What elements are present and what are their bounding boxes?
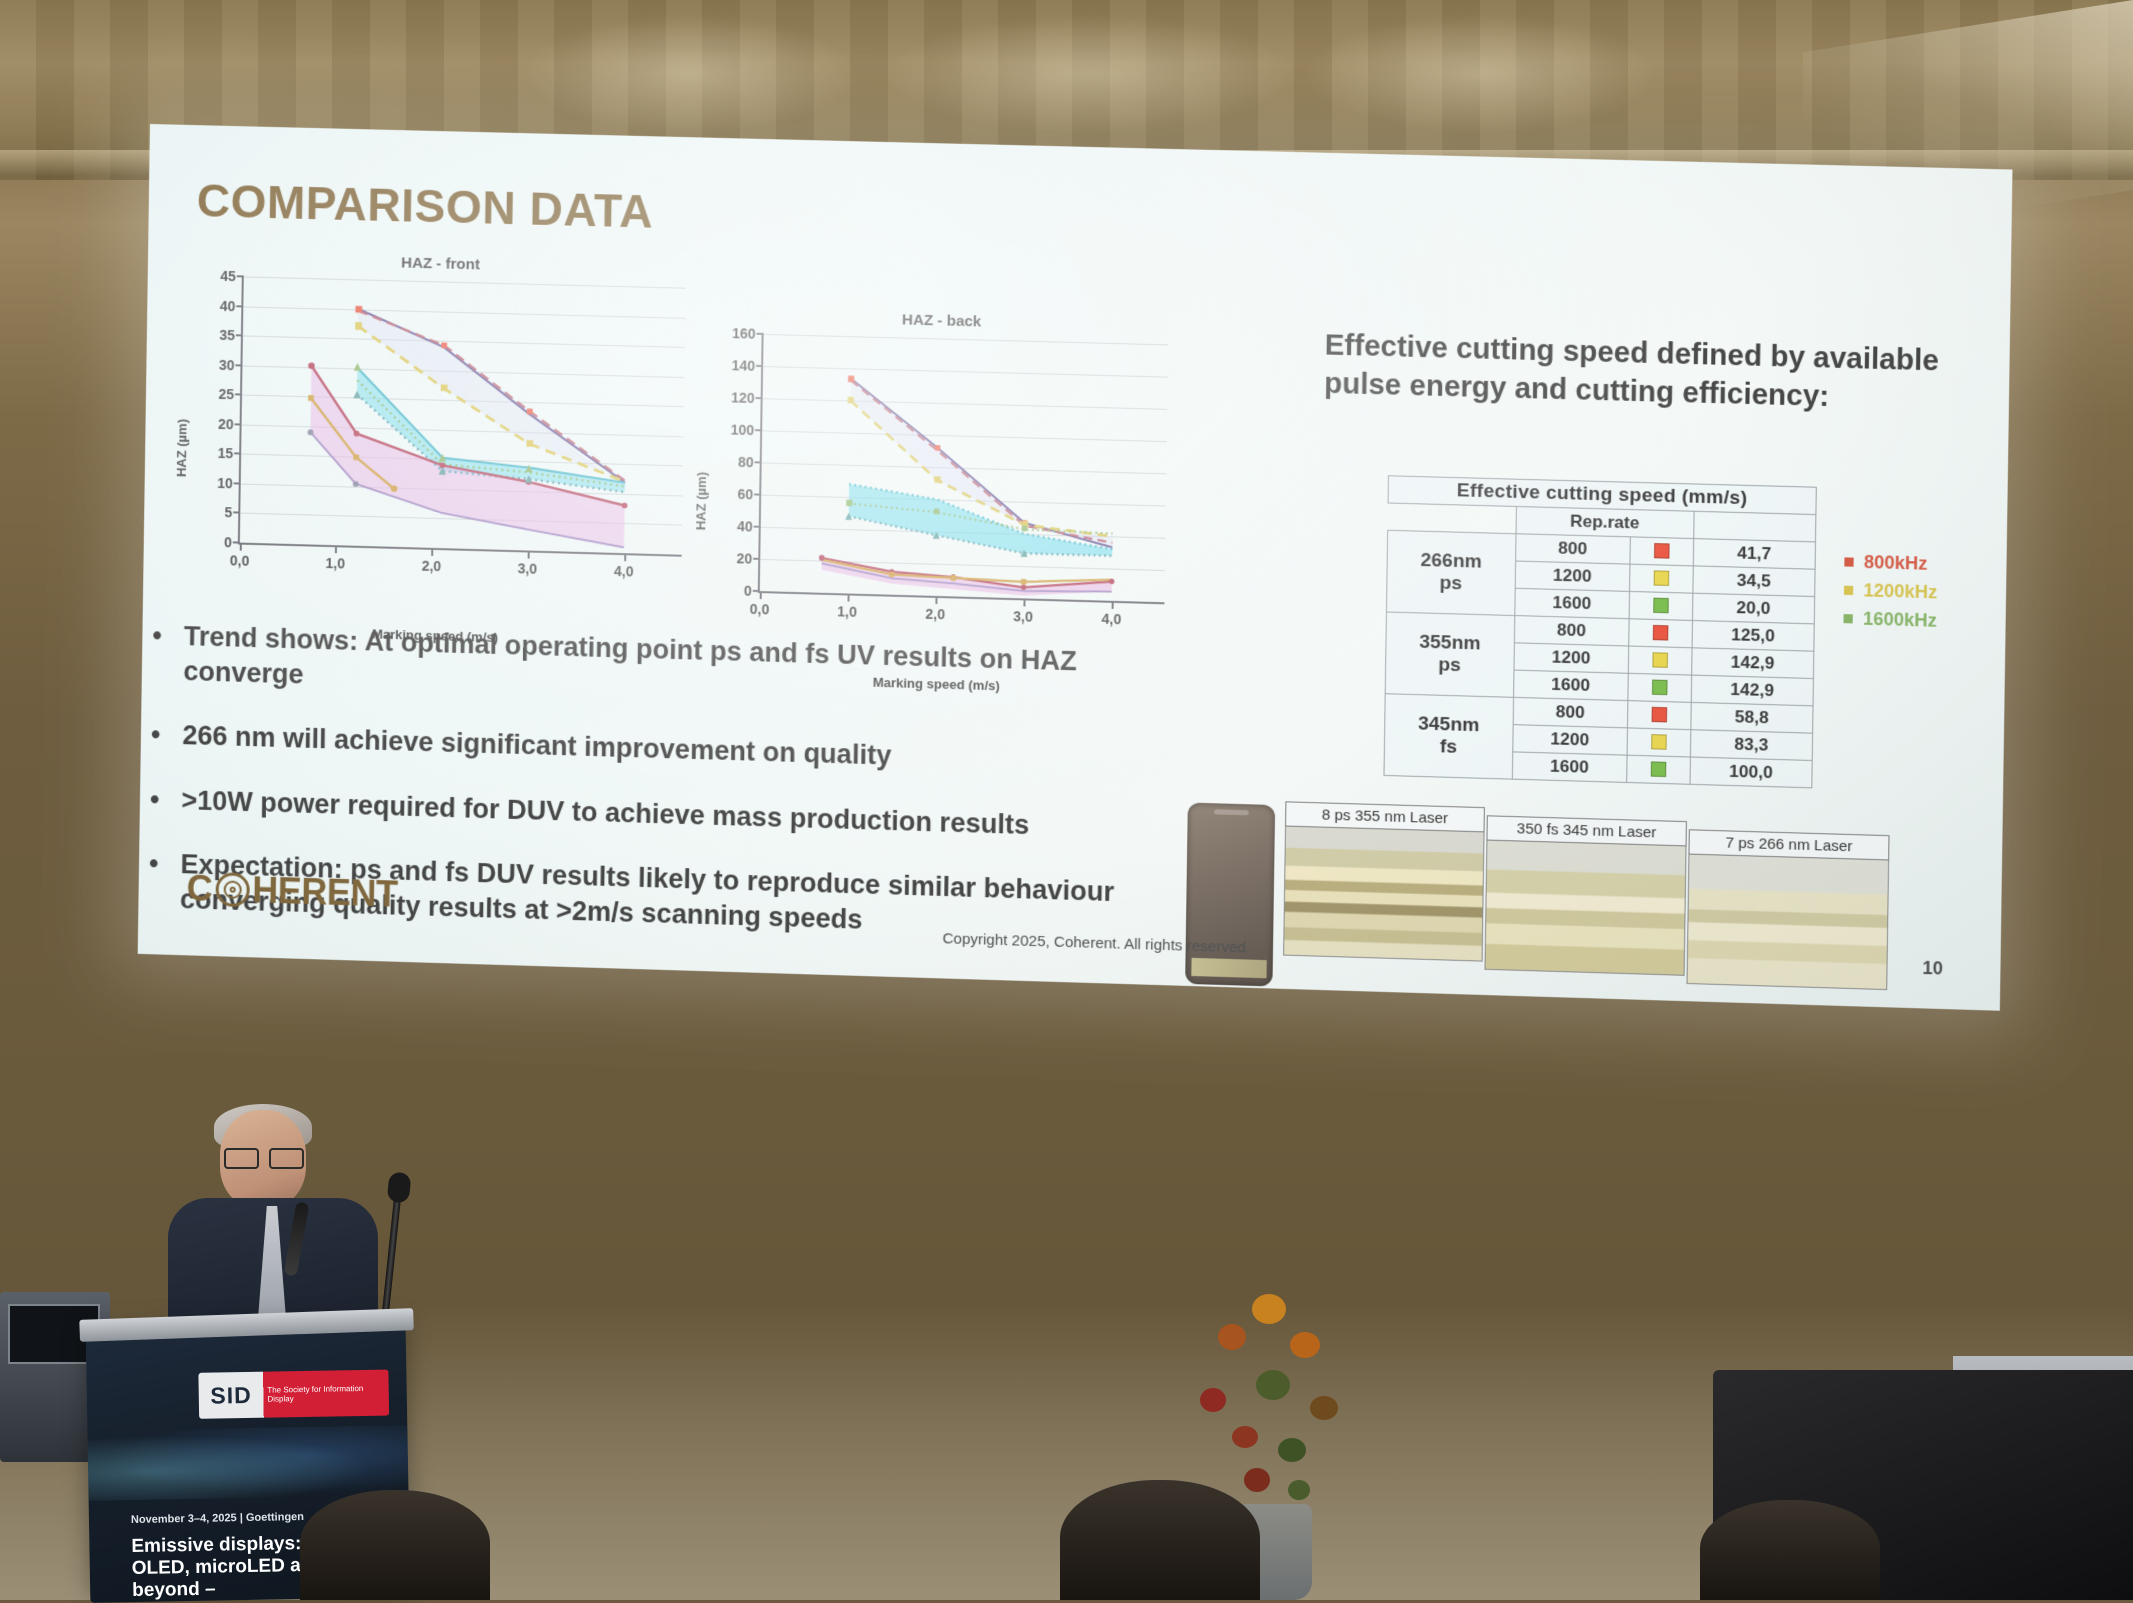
table-corner-cell bbox=[1388, 503, 1516, 534]
chart1-ytick: 0 bbox=[224, 534, 232, 550]
glasses-icon bbox=[224, 1148, 304, 1165]
table-cell-rep-rate: 1200 bbox=[1514, 643, 1629, 673]
swatch-1600khz bbox=[1651, 761, 1667, 777]
chart2-xtick: 0,0 bbox=[750, 601, 770, 618]
effective-cutting-speed-heading: Effective cutting speed defined by avail… bbox=[1324, 326, 1959, 420]
coherent-ring-icon bbox=[215, 872, 250, 907]
chart1-xtick: 3,0 bbox=[517, 560, 537, 577]
chart2-plot-area: 160 140 120 100 80 60 40 20 0 0,0 1,0 2,… bbox=[758, 334, 1169, 604]
micrograph-panel-3: 7 ps 266 nm Laser bbox=[1687, 829, 1890, 990]
table-cell-value: 125,0 bbox=[1692, 620, 1815, 651]
flower-petal bbox=[1256, 1370, 1290, 1400]
flower-petal bbox=[1252, 1294, 1286, 1324]
micrograph-image-3 bbox=[1687, 855, 1890, 991]
effective-cutting-speed-table: Effective cutting speed (mm/s) Rep.rate … bbox=[1383, 475, 1816, 788]
micrograph-image-1 bbox=[1283, 827, 1484, 962]
table-cell-value: 58,8 bbox=[1690, 702, 1813, 733]
table-cell-value: 20,0 bbox=[1692, 593, 1815, 624]
bullet-marker: • bbox=[148, 846, 158, 915]
stucco-ornament-left bbox=[520, 14, 860, 134]
table-cell-value: 34,5 bbox=[1693, 566, 1816, 597]
chart2-ytick: 140 bbox=[731, 357, 755, 374]
audience-head-silhouette bbox=[1700, 1500, 1880, 1600]
legend-dot-1200khz bbox=[1844, 586, 1853, 595]
legend-label-1200khz: 1200kHz bbox=[1863, 577, 1937, 607]
group-345nm-line2: fs bbox=[1440, 736, 1458, 758]
chart1-ytick: 25 bbox=[218, 386, 234, 402]
chart2-series-layer bbox=[760, 334, 1168, 602]
phone-screen-band bbox=[1191, 958, 1266, 978]
table-cell-rep-rate: 1600 bbox=[1514, 588, 1629, 618]
projection-screen: COMPARISON DATA HAZ - front HAZ (µm) 45 … bbox=[138, 124, 2013, 1011]
table-cell-rep-rate: 800 bbox=[1513, 697, 1628, 728]
chart1-xtick: 0,0 bbox=[230, 552, 250, 569]
stucco-ornament-center bbox=[880, 14, 1300, 134]
chart1-xtick: 1,0 bbox=[325, 555, 345, 572]
table-cell-swatch bbox=[1628, 646, 1692, 675]
phone-device-photo bbox=[1185, 803, 1275, 987]
swatch-800khz bbox=[1654, 543, 1670, 559]
swatch-1200khz bbox=[1652, 652, 1668, 668]
rep-rate-legend: 800kHz 1200kHz 1600kHz bbox=[1843, 548, 1938, 635]
page-title: COMPARISON DATA bbox=[196, 173, 653, 239]
table-cell-swatch bbox=[1628, 673, 1692, 702]
chart1-ytick: 45 bbox=[220, 268, 236, 284]
swatch-1600khz bbox=[1653, 598, 1669, 614]
legend-item-1200khz: 1200kHz bbox=[1844, 576, 1938, 607]
chart2-xtick: 4,0 bbox=[1101, 611, 1121, 628]
swatch-1200khz bbox=[1651, 734, 1667, 750]
bullet-item-2: • 266 nm will achieve significant improv… bbox=[151, 717, 1189, 782]
chart2-ytick: 160 bbox=[732, 325, 756, 342]
chart-haz-back: HAZ - back HAZ (µm) 160 140 120 100 80 6… bbox=[705, 306, 1175, 650]
chart2-y-axis-label: HAZ (µm) bbox=[693, 472, 709, 531]
table-cell-rep-rate: 1600 bbox=[1513, 670, 1628, 701]
presentation-slide: COMPARISON DATA HAZ - front HAZ (µm) 45 … bbox=[138, 124, 2013, 1011]
flower-petal bbox=[1200, 1388, 1226, 1412]
chart2-ytick: 40 bbox=[737, 518, 753, 534]
table-cell-swatch bbox=[1629, 591, 1693, 620]
chart1-xtick: 2,0 bbox=[422, 558, 442, 575]
conference-title-line2: OLED, microLED and bbox=[132, 1555, 324, 1580]
legend-dot-1600khz bbox=[1843, 614, 1852, 623]
chart1-ytick: 10 bbox=[217, 475, 233, 491]
legend-label-800khz: 800kHz bbox=[1864, 549, 1928, 579]
chart1-title: HAZ - front bbox=[190, 249, 692, 279]
table-cell-swatch bbox=[1626, 755, 1690, 784]
bullet-item-3: • >10W power required for DUV to achieve… bbox=[150, 782, 1188, 847]
table-cell-swatch bbox=[1629, 564, 1693, 593]
table-cell-rep-rate: 1200 bbox=[1515, 561, 1630, 591]
legend-item-800khz: 800kHz bbox=[1844, 548, 1938, 579]
table-col-value-header bbox=[1693, 511, 1816, 542]
chart2-ytick: 60 bbox=[737, 486, 753, 502]
flower-petal bbox=[1232, 1426, 1258, 1448]
sid-badge: SID The Society for Information Display bbox=[198, 1370, 389, 1419]
micrograph-panel-2: 350 fs 345 nm Laser bbox=[1485, 815, 1687, 976]
micrograph-panel-1: 8 ps 355 nm Laser bbox=[1283, 801, 1485, 961]
chart1-ytick: 40 bbox=[220, 297, 236, 313]
table-cell-swatch bbox=[1627, 728, 1691, 757]
flower-petal bbox=[1244, 1468, 1270, 1492]
logo-text-left: C bbox=[186, 867, 212, 910]
table-cell-value: 83,3 bbox=[1690, 730, 1813, 761]
bullet-marker: • bbox=[152, 618, 162, 687]
chart2-ytick: 80 bbox=[738, 454, 754, 470]
sid-society-text: The Society for Information Display bbox=[263, 1383, 389, 1404]
sid-logo-text: SID bbox=[199, 1381, 264, 1409]
swatch-1200khz bbox=[1653, 570, 1669, 586]
conference-date: November 3–4, 2025 | Goettingen bbox=[131, 1511, 304, 1526]
chart-haz-front: HAZ - front HAZ (µm) 45 40 35 30 25 20 1… bbox=[185, 249, 692, 603]
chart1-plot-area: 45 40 35 30 25 20 15 10 5 0 0,0 bbox=[238, 276, 686, 556]
group-345nm-line1: 345nm bbox=[1418, 713, 1480, 736]
table-cell-rep-rate: 1600 bbox=[1512, 752, 1627, 783]
group-266nm-line1: 266nm bbox=[1420, 550, 1482, 573]
chart2-xtick: 2,0 bbox=[925, 606, 945, 623]
chart1-ytick: 15 bbox=[217, 445, 233, 461]
chart1-ytick: 30 bbox=[219, 357, 235, 373]
conference-title-line3: beyond – bbox=[132, 1577, 324, 1602]
group-266nm-line2: ps bbox=[1439, 573, 1462, 595]
podium-graphic-wave bbox=[87, 1425, 408, 1501]
bullet-text-3: >10W power required for DUV to achieve m… bbox=[181, 783, 1029, 843]
table-cell-rep-rate: 800 bbox=[1514, 616, 1629, 646]
table-cell-rep-rate: 800 bbox=[1515, 534, 1630, 564]
bullet-text-2: 266 nm will achieve significant improvem… bbox=[182, 718, 891, 773]
legend-label-1600khz: 1600kHz bbox=[1863, 605, 1937, 635]
table-cell-value: 142,9 bbox=[1691, 648, 1814, 679]
audience-head-silhouette bbox=[1060, 1480, 1260, 1600]
chart1-y-axis-label: HAZ (µm) bbox=[173, 419, 189, 477]
table-cell-value: 100,0 bbox=[1690, 757, 1813, 788]
logo-text-right: HERENT bbox=[252, 869, 398, 915]
chart2-xtick: 1,0 bbox=[837, 603, 857, 620]
stucco-ornament-right bbox=[1300, 14, 1660, 134]
bullet-marker: • bbox=[150, 782, 160, 817]
chart1-xtick: 4,0 bbox=[614, 563, 634, 580]
slide-page-number: 10 bbox=[1922, 958, 1943, 980]
table-group-label-266nm: 266nm ps bbox=[1386, 530, 1515, 615]
flower-petal bbox=[1310, 1396, 1338, 1420]
legend-item-1600khz: 1600kHz bbox=[1843, 605, 1937, 636]
flower-petal bbox=[1218, 1324, 1246, 1350]
swatch-800khz bbox=[1653, 625, 1669, 641]
table-cell-swatch bbox=[1627, 701, 1691, 730]
micrograph-image-2 bbox=[1485, 841, 1687, 976]
flower-petal bbox=[1288, 1480, 1310, 1500]
chart1-series-layer bbox=[240, 276, 686, 554]
table-group-label-345nm: 345nm fs bbox=[1384, 694, 1513, 779]
audience-head-silhouette bbox=[300, 1490, 490, 1600]
swatch-1600khz bbox=[1652, 680, 1668, 696]
group-355nm-line2: ps bbox=[1438, 654, 1461, 676]
chart2-ytick: 100 bbox=[730, 421, 754, 438]
bullet-marker: • bbox=[151, 717, 161, 752]
phone-notch bbox=[1214, 809, 1249, 815]
group-355nm-line1: 355nm bbox=[1419, 632, 1481, 655]
chart2-xtick: 3,0 bbox=[1013, 608, 1033, 625]
chart1-ytick: 5 bbox=[224, 505, 232, 521]
chart2-ytick: 20 bbox=[736, 550, 752, 567]
chart2-ytick: 0 bbox=[744, 583, 752, 599]
flower-petal bbox=[1278, 1438, 1306, 1462]
flower-petal bbox=[1290, 1332, 1320, 1358]
table-cell-rep-rate: 1200 bbox=[1512, 725, 1627, 756]
table-cell-swatch bbox=[1629, 619, 1693, 648]
coherent-logo: C HERENT bbox=[186, 867, 397, 915]
legend-dot-800khz bbox=[1844, 558, 1853, 567]
table-cell-swatch bbox=[1630, 537, 1694, 566]
table-cell-value: 142,9 bbox=[1691, 675, 1814, 706]
swatch-800khz bbox=[1651, 707, 1667, 723]
conference-title: Emissive displays: OLED, microLED and be… bbox=[131, 1533, 324, 1602]
table-cell-value: 41,7 bbox=[1693, 539, 1816, 570]
chart2-ytick: 120 bbox=[731, 389, 755, 406]
chart2-title: HAZ - back bbox=[709, 306, 1174, 335]
chart1-ytick: 35 bbox=[219, 327, 235, 343]
chart1-ytick: 20 bbox=[218, 416, 234, 432]
table-group-label-355nm: 355nm ps bbox=[1385, 612, 1514, 697]
